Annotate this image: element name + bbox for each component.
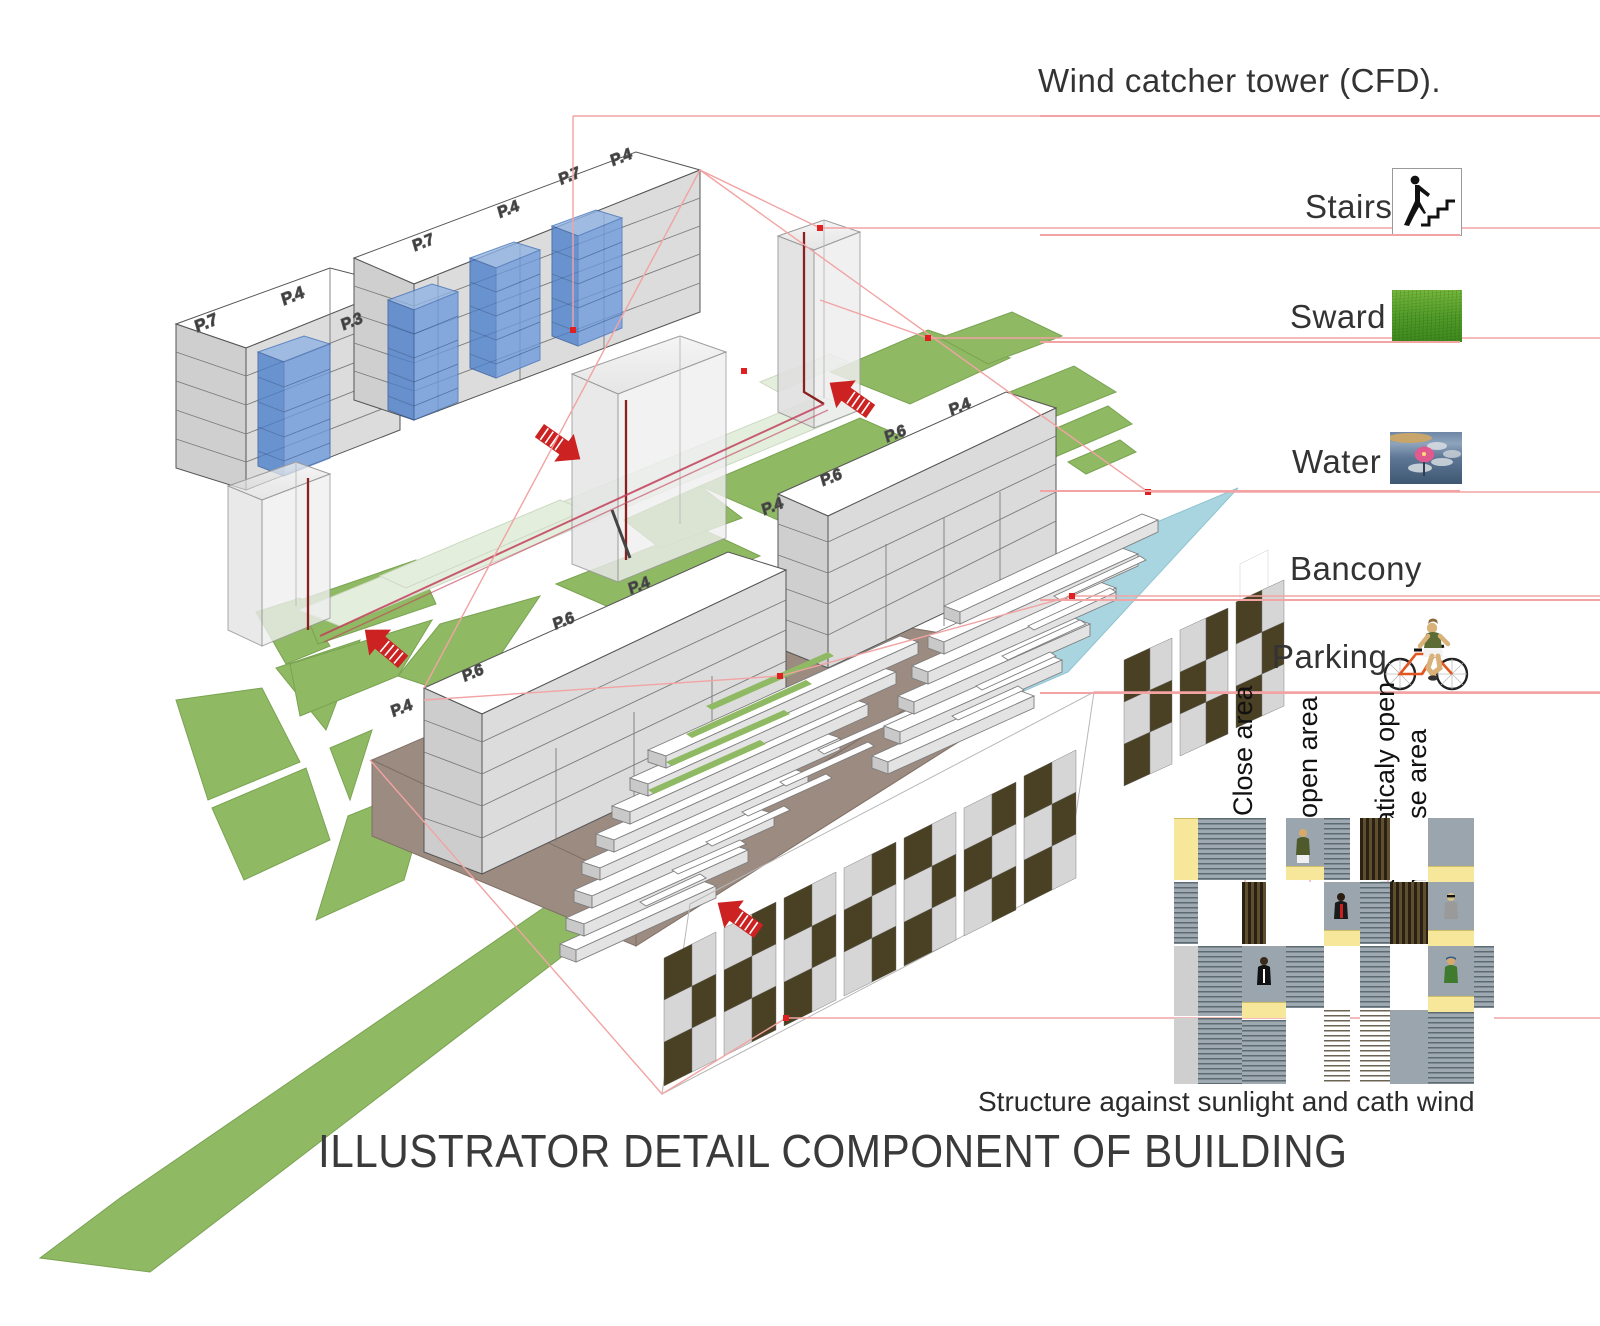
page-title: ILLUSTRATOR DETAIL COMPONENT OF BUILDING — [318, 1124, 1348, 1178]
module-louver — [1242, 818, 1266, 880]
module-sill — [1242, 1002, 1286, 1018]
module-louver — [1324, 818, 1350, 880]
module-screen — [1360, 818, 1390, 880]
module-louver — [1198, 946, 1242, 1016]
module-void — [1390, 818, 1428, 880]
module-louver — [1198, 818, 1242, 880]
person-figure — [1332, 892, 1350, 937]
module-void — [1474, 818, 1494, 880]
module-void — [1286, 882, 1324, 944]
module-louver — [1198, 1018, 1242, 1084]
module-screen — [1242, 882, 1266, 944]
module-louver — [1360, 882, 1390, 944]
module-void — [1198, 882, 1242, 944]
module-louver — [1242, 1020, 1286, 1084]
module-louver — [1474, 946, 1494, 1008]
detail-panel-caption: Structure against sunlight and cath wind — [978, 1086, 1475, 1118]
module-void — [1390, 946, 1428, 1008]
module-sill — [1174, 818, 1198, 880]
module-louver — [1324, 1010, 1350, 1084]
module-wall — [1390, 1010, 1428, 1084]
module-panel — [1174, 1018, 1198, 1084]
architectural-diagram-canvas: P.7 P.4 — [0, 0, 1600, 1326]
person-figure — [1256, 956, 1272, 1001]
module-louver — [1360, 946, 1390, 1008]
module-wall — [1428, 818, 1474, 866]
module-void — [1474, 1010, 1494, 1084]
module-sill — [1428, 866, 1474, 882]
module-void — [1324, 946, 1350, 1008]
module-panel — [1174, 946, 1198, 1016]
facade-detail-panel — [1174, 816, 1494, 1084]
module-louver — [1360, 1010, 1390, 1084]
person-figure — [1294, 828, 1312, 873]
module-void — [1474, 882, 1494, 944]
person-figure — [1442, 956, 1460, 1001]
module-louver — [1174, 882, 1198, 944]
module-screen — [1390, 882, 1428, 944]
module-louver — [1428, 1012, 1474, 1084]
module-void — [1286, 1010, 1324, 1084]
module-louver — [1286, 946, 1324, 1008]
person-figure — [1442, 892, 1460, 937]
